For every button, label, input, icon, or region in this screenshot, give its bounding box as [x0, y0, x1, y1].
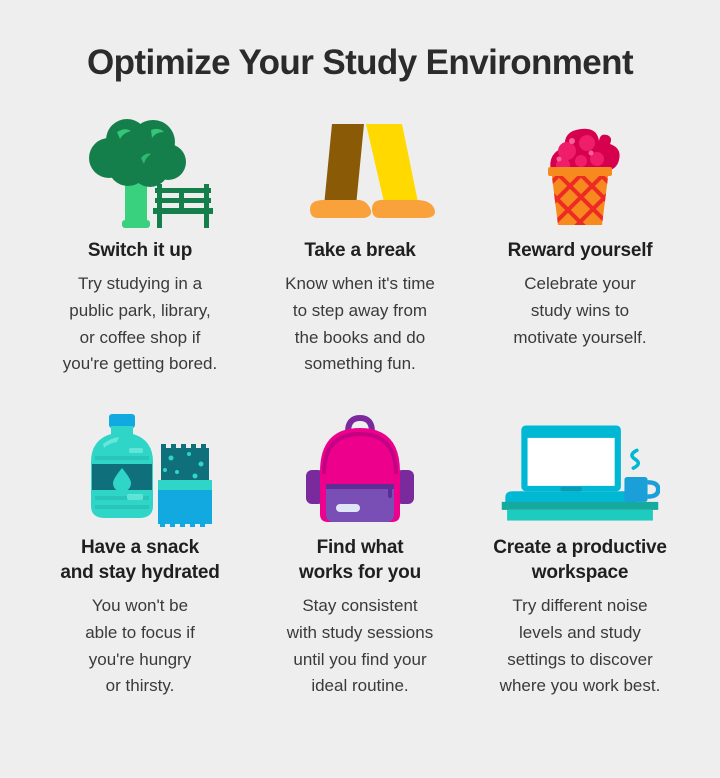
page-title: Optimize Your Study Environment	[87, 44, 633, 83]
tip-card-body: Know when it's time to step away from th…	[285, 271, 435, 378]
walking-legs-icon	[280, 113, 440, 231]
tip-card-title: Reward yourself	[508, 239, 653, 263]
tip-card-have-a-snack: Have a snack and stay hydrated You won't…	[30, 408, 250, 700]
tip-card-title: Take a break	[304, 239, 415, 263]
tip-card-body: Stay consistent with study sessions unti…	[287, 593, 433, 700]
tip-card-create-workspace: Create a productive workspace Try differ…	[470, 408, 690, 700]
tip-card-title: Find what works for you	[299, 536, 421, 585]
tip-card-switch-it-up: Switch it up Try studying in a public pa…	[30, 113, 250, 379]
ice-cream-cup-icon	[500, 113, 660, 231]
tip-card-body: Celebrate your study wins to motivate yo…	[513, 271, 646, 352]
tip-card-body: You won't be able to focus if you're hun…	[85, 593, 195, 700]
tip-card-reward-yourself: Reward yourself Celebrate your study win…	[470, 113, 690, 379]
tip-card-body: Try studying in a public park, library, …	[63, 271, 217, 378]
tip-card-find-what-works: Find what works for you Stay consistent …	[250, 408, 470, 700]
backpack-icon	[280, 408, 440, 528]
tree-and-park-bench-icon	[60, 113, 220, 231]
water-bottle-and-snack-icon	[60, 408, 220, 528]
tip-card-title: Switch it up	[88, 239, 192, 263]
tips-grid-top-row: Switch it up Try studying in a public pa…	[30, 113, 690, 379]
tips-grid-bottom-row: Have a snack and stay hydrated You won't…	[30, 408, 690, 700]
tip-card-take-a-break: Take a break Know when it's time to step…	[250, 113, 470, 379]
infographic-poster: Optimize Your Study Environment	[0, 0, 720, 778]
tip-card-title: Have a snack and stay hydrated	[60, 536, 219, 585]
tip-card-body: Try different noise levels and study set…	[500, 593, 661, 700]
laptop-desk-and-mug-icon	[500, 408, 660, 528]
tip-card-title: Create a productive workspace	[493, 536, 667, 585]
